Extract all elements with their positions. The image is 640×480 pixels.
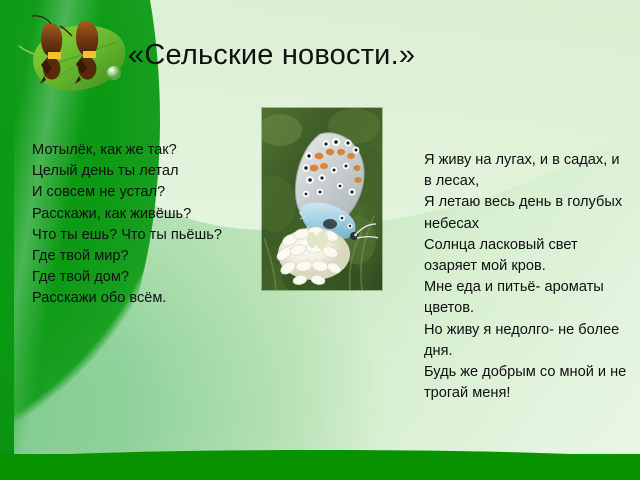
leaf-vein-main: [42, 42, 116, 68]
presentation-slide: «Сельские новости.» Мотылёк, как же так?…: [0, 0, 640, 480]
butterfly-right: [60, 21, 98, 84]
page-title: «Сельские новости.»: [128, 36, 598, 74]
background-left-strip: [0, 0, 14, 462]
leaf-stem: [19, 46, 34, 54]
poem-right-text: Я живу на лугах, и в садах, и в лесах, Я…: [424, 150, 630, 404]
butterfly-photo: [262, 108, 382, 290]
bottom-band-curve: [0, 450, 640, 462]
leaf-shape: [33, 25, 125, 90]
butterfly-left: [32, 16, 62, 84]
leaf-vein: [72, 66, 102, 84]
water-drop-icon: [107, 66, 121, 80]
bottom-band-ledge: [300, 458, 640, 462]
poem-left-text: Мотылёк, как же так? Целый день ты летал…: [32, 140, 258, 310]
leaf-with-butterflies-icon: [18, 14, 136, 100]
leaf-vein: [56, 60, 90, 78]
bottom-band: [0, 454, 640, 480]
